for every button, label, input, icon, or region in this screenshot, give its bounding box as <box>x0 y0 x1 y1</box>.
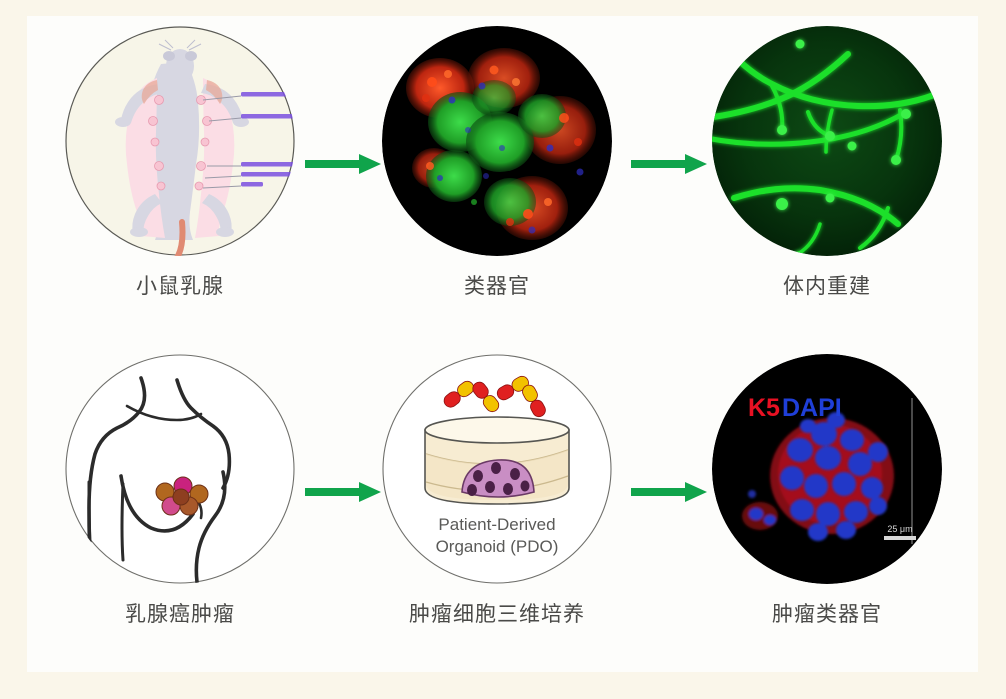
panel-caption-pdo-3d-culture: 肿瘤细胞三维培养 <box>372 598 622 628</box>
panel-breast-cancer-tumor: 乳腺癌肿瘤 <box>55 352 305 652</box>
arrow-right-icon <box>305 152 381 176</box>
arrow-right-icon <box>631 480 707 504</box>
pdo-label-line2: Organoid (PDO) <box>436 537 559 556</box>
panel-caption-mouse-mammary-gland: 小鼠乳腺 <box>55 270 305 300</box>
workflow-row-tumor: 乳腺癌肿瘤 <box>27 352 978 652</box>
in-vivo-reconstruction-image <box>712 26 942 256</box>
pdo-label-line1: Patient-Derived <box>438 515 555 534</box>
tumor-organoid-image: K5 DAPI 25 μm <box>712 354 942 584</box>
panel-caption-organoid: 类器官 <box>372 270 622 300</box>
pdo-culture-image: Patient-Derived Organoid (PDO) <box>382 354 612 584</box>
breast-cancer-tumor-image <box>65 354 295 584</box>
marker-label-k5: K5 <box>748 394 780 422</box>
scale-bar-label: 25 μm <box>887 524 912 534</box>
panel-caption-tumor-organoid: 肿瘤类器官 <box>702 598 952 628</box>
panel-mouse-mammary-gland: 小鼠乳腺 <box>55 24 305 324</box>
figure-card: 小鼠乳腺 <box>27 16 978 672</box>
panel-caption-breast-cancer-tumor: 乳腺癌肿瘤 <box>55 598 305 628</box>
arrow-right-icon <box>631 152 707 176</box>
arrow-right-icon <box>305 480 381 504</box>
panel-in-vivo-reconstruction: 体内重建 <box>702 24 952 324</box>
panel-caption-in-vivo-reconstruction: 体内重建 <box>702 270 952 300</box>
workflow-row-normal: 小鼠乳腺 <box>27 24 978 324</box>
mouse-mammary-gland-image <box>65 26 295 256</box>
panel-pdo-3d-culture: Patient-Derived Organoid (PDO) 肿瘤细胞三维培养 <box>372 352 622 652</box>
panel-organoid: 类器官 <box>372 24 622 324</box>
panel-tumor-organoid: K5 DAPI 25 μm 肿瘤类器官 <box>702 352 952 652</box>
organoid-image <box>382 26 612 256</box>
marker-label-dapi: DAPI <box>782 394 842 422</box>
